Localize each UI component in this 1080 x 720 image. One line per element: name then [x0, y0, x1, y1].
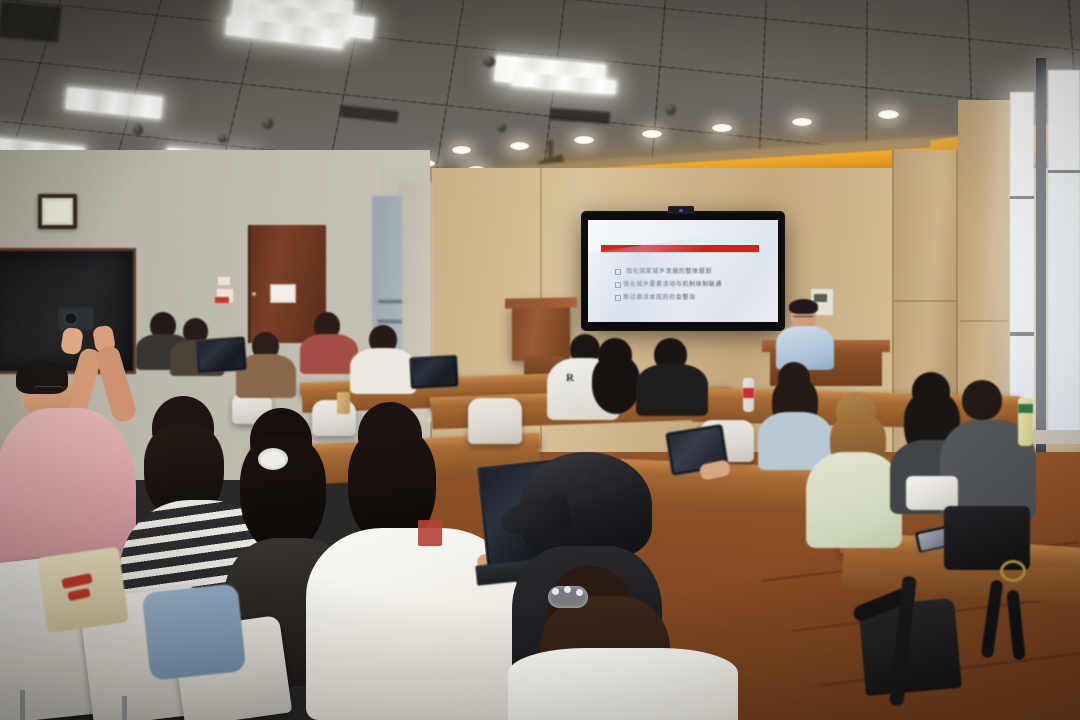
display-screen: 强化国家城乡发展的整体规划 强化城乡要素流动与机制体制联通 推动激活本底的社会整…: [588, 220, 778, 322]
denim-jacket: [142, 583, 247, 681]
ceiling-speaker-icon: [497, 123, 506, 132]
laptop-screen: [412, 358, 455, 386]
wood-seam: [960, 320, 1008, 322]
bag-ring: [1000, 560, 1026, 582]
lecture-hall-photo: 强化国家城乡发展的整体规划 强化城乡要素流动与机制体制联通 推动激活本底的社会整…: [0, 0, 1080, 720]
ceiling-speaker-icon: [218, 134, 227, 143]
ceiling-vent: [0, 1, 61, 42]
lectern-top: [505, 297, 577, 308]
plastic-bag: [906, 476, 958, 510]
person-body: [350, 348, 416, 394]
wall-plate-socket: [814, 294, 827, 302]
downlight-icon: [510, 142, 529, 150]
ceiling-speaker-icon: [133, 124, 143, 135]
laptop: [409, 355, 459, 389]
clip-jewel: [576, 589, 583, 596]
window-mullion: [1010, 196, 1034, 199]
ceiling-speaker-icon: [483, 56, 495, 67]
wall-notice: [217, 276, 231, 286]
wood-seam: [892, 150, 894, 480]
downlight-icon: [574, 136, 594, 144]
wood-seam: [894, 300, 956, 302]
flat-panel-display[interactable]: 强化国家城乡发展的整体规划 强化城乡要素流动与机制体制联通 推动激活本底的社会整…: [583, 213, 783, 329]
camera-lens-icon: [64, 312, 78, 325]
chair-leg: [20, 690, 25, 720]
coat-patch: [418, 520, 442, 546]
downlight-icon: [792, 118, 812, 126]
door-sign: [270, 284, 296, 303]
cap-button: [576, 468, 590, 482]
clip-jewel: [552, 588, 559, 595]
downlight-icon: [878, 110, 899, 119]
wall-clock: [38, 194, 77, 229]
clock-face: [45, 201, 70, 222]
window-mullion: [1010, 332, 1034, 336]
camera-lens-icon: [679, 209, 683, 212]
wall-notice-red: [215, 297, 229, 303]
ceiling-speaker-icon: [262, 117, 273, 129]
downlight-icon: [712, 124, 732, 132]
shirt-letter: R: [566, 372, 575, 384]
hair-scrunchie: [258, 448, 288, 470]
presenter-hair: [789, 299, 818, 314]
downlight-icon: [452, 146, 471, 154]
clip-jewel: [564, 586, 571, 593]
laptop: [195, 336, 247, 373]
railing: [378, 320, 402, 323]
door-handle: [252, 292, 256, 296]
chair-leg: [122, 696, 127, 720]
person-hair: [592, 356, 640, 414]
window-mullion: [1048, 170, 1080, 173]
person-body: [636, 364, 708, 416]
chair: [468, 398, 522, 444]
window: [1048, 70, 1080, 436]
glasses-icon: [793, 316, 813, 321]
bottle-label: [1018, 404, 1033, 413]
person-body: [806, 452, 902, 548]
railing: [378, 300, 402, 303]
bottle-label: [743, 388, 754, 398]
downlight-icon: [642, 130, 662, 138]
presenter-shirt: [776, 326, 834, 370]
person-head: [962, 380, 1002, 420]
lectern: [512, 303, 570, 361]
glasses-icon: [34, 386, 64, 394]
cup: [337, 392, 350, 414]
window-frame: [1036, 58, 1046, 458]
window: [1010, 92, 1034, 432]
person-top: [508, 648, 738, 720]
presentation-slide: 强化国家城乡发展的整体规划 强化城乡要素流动与机制体制联通 推动激活本底的社会整…: [588, 220, 778, 322]
conference-camera: [668, 206, 694, 214]
laptop-screen: [198, 339, 244, 370]
ceiling-speaker-icon: [665, 104, 676, 115]
